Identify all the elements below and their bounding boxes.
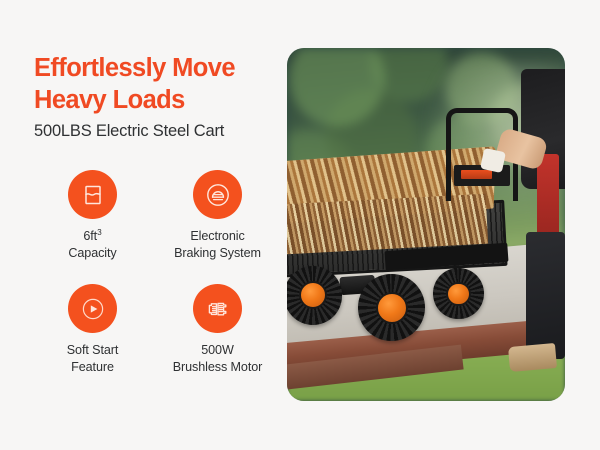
headline-line-1: Effortlessly Move <box>34 53 274 85</box>
feature-label-braking: Electronic Braking System <box>174 228 261 262</box>
feature-label-soft-start: Soft Start Feature <box>67 342 119 376</box>
feature-item-soft-start: Soft Start Feature <box>30 284 155 376</box>
capacity-value: 6ft <box>83 229 97 243</box>
soft-start-play-icon <box>68 284 117 333</box>
feature-grid: 6ft3 Capacity Electronic <box>30 170 280 377</box>
braking-line-2: Braking System <box>174 246 261 260</box>
braking-line-1: Electronic <box>190 229 244 243</box>
wheel-front <box>433 268 484 319</box>
brushless-motor-icon <box>193 284 242 333</box>
page-title: Effortlessly Move Heavy Loads <box>34 53 274 117</box>
person-leg <box>526 232 565 359</box>
motor-line-2: Brushless Motor <box>173 360 263 374</box>
product-photo <box>287 48 565 401</box>
feature-item-motor: 500W Brushless Motor <box>155 284 280 376</box>
wheel-rear-right <box>358 274 425 341</box>
subtitle: 500LBS Electric Steel Cart <box>34 122 284 141</box>
electric-steel-cart <box>287 189 534 309</box>
person-shoe <box>508 343 557 372</box>
capacity-unit-exponent: 3 <box>97 227 102 237</box>
headline-line-2: Heavy Loads <box>34 85 274 117</box>
product-photo-scene <box>287 48 565 401</box>
electronic-brake-icon <box>193 170 242 219</box>
feature-item-capacity: 6ft3 Capacity <box>30 170 155 262</box>
feature-label-capacity: 6ft3 Capacity <box>68 228 116 262</box>
product-feature-banner: Effortlessly Move Heavy Loads 500LBS Ele… <box>0 0 600 450</box>
brand-badge <box>461 170 492 179</box>
soft-start-line-2: Feature <box>71 360 114 374</box>
copy-column: Effortlessly Move Heavy Loads 500LBS Ele… <box>0 0 287 450</box>
feature-item-braking: Electronic Braking System <box>155 170 280 262</box>
capacity-word: Capacity <box>68 246 116 260</box>
motor-line-1: 500W <box>201 343 234 357</box>
feature-label-motor: 500W Brushless Motor <box>173 342 263 376</box>
soft-start-line-1: Soft Start <box>67 343 119 357</box>
wheel-rear-left <box>287 266 342 325</box>
capacity-bin-icon <box>68 170 117 219</box>
